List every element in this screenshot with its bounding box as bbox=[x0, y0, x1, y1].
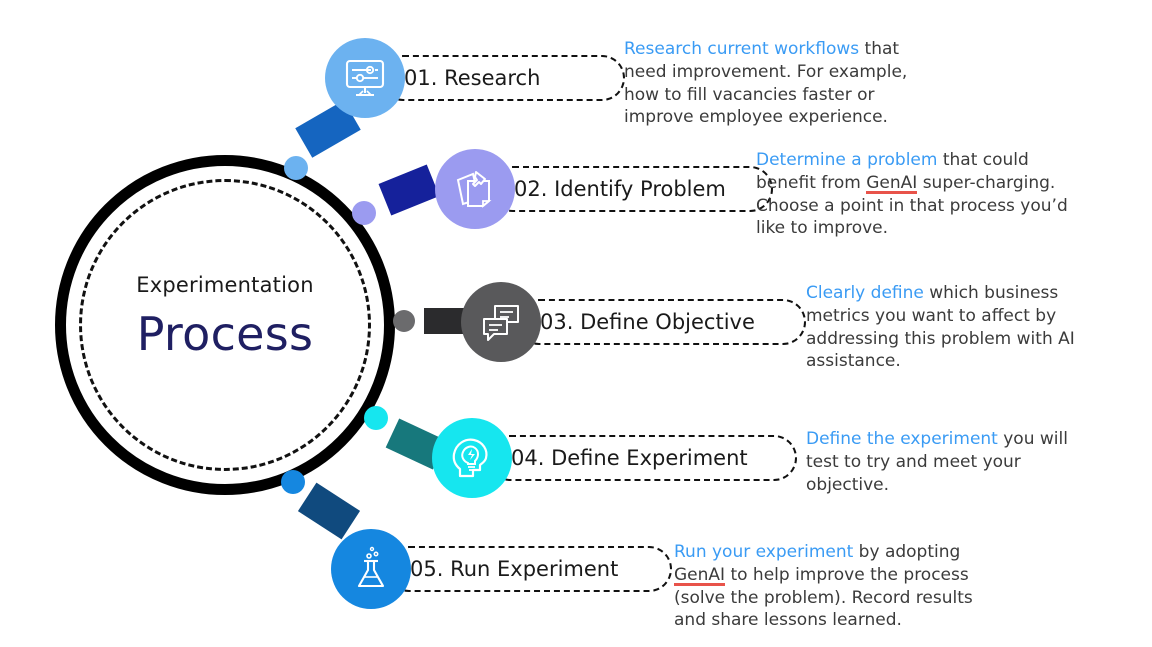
step-desc-lead-01: Research current workflows bbox=[624, 39, 859, 59]
pinned-notes-icon bbox=[449, 163, 501, 215]
ring-dot-05 bbox=[281, 470, 305, 494]
step-label-02: 02. Identify Problem bbox=[492, 177, 726, 201]
ring-dot-02 bbox=[352, 201, 376, 225]
step-desc-lead-02: Determine a problem bbox=[756, 150, 937, 170]
head-lightbulb-icon bbox=[446, 432, 498, 484]
center-title: Process bbox=[55, 307, 395, 361]
step-desc-lead-05: Run your experiment bbox=[674, 542, 853, 562]
step-desc-01: Research current workflows that need imp… bbox=[624, 38, 944, 129]
center-ring: Experimentation Process bbox=[55, 155, 395, 495]
step-desc-05: Run your experiment by adopting GenAI to… bbox=[674, 541, 984, 632]
step-desc-04: Define the experiment you will test to t… bbox=[806, 428, 1086, 496]
step-desc-lead-03: Clearly define bbox=[806, 283, 924, 303]
step-icon-circle-01[interactable] bbox=[325, 38, 405, 118]
step-label-05: 05. Run Experiment bbox=[388, 557, 618, 581]
step-pill-02[interactable]: 02. Identify Problem bbox=[490, 166, 773, 212]
step-pill-04[interactable]: 04. Define Experiment bbox=[487, 435, 797, 481]
ring-dot-03 bbox=[393, 310, 415, 332]
ring-dot-01 bbox=[284, 156, 308, 180]
step-label-04: 04. Define Experiment bbox=[489, 446, 748, 470]
step-desc-spell-05: GenAI bbox=[674, 565, 725, 586]
step-icon-circle-04[interactable] bbox=[432, 418, 512, 498]
center-subtitle: Experimentation bbox=[55, 273, 395, 297]
monitor-sliders-icon bbox=[339, 52, 391, 104]
step-icon-circle-02[interactable] bbox=[435, 149, 515, 229]
step-icon-circle-03[interactable] bbox=[461, 282, 541, 362]
chat-bubbles-icon bbox=[475, 296, 527, 348]
step-desc-03: Clearly define which business metrics yo… bbox=[806, 282, 1076, 373]
step-pill-01[interactable]: 01. Research bbox=[380, 55, 625, 101]
step-pill-03[interactable]: 03. Define Objective bbox=[516, 299, 806, 345]
ring-dot-04 bbox=[364, 406, 388, 430]
step-desc-lead-04: Define the experiment bbox=[806, 429, 998, 449]
process-diagram: Experimentation Process 01. Research bbox=[0, 0, 1152, 647]
flask-icon bbox=[345, 543, 397, 595]
step-icon-circle-05[interactable] bbox=[331, 529, 411, 609]
step-label-03: 03. Define Objective bbox=[518, 310, 755, 334]
step-desc-02: Determine a problem that could benefit f… bbox=[756, 149, 1076, 240]
step-label-01: 01. Research bbox=[382, 66, 540, 90]
step-pill-05[interactable]: 05. Run Experiment bbox=[386, 546, 672, 592]
step-desc-mid-05: by adopting bbox=[853, 542, 960, 562]
step-desc-spell-02: GenAI bbox=[866, 173, 917, 194]
